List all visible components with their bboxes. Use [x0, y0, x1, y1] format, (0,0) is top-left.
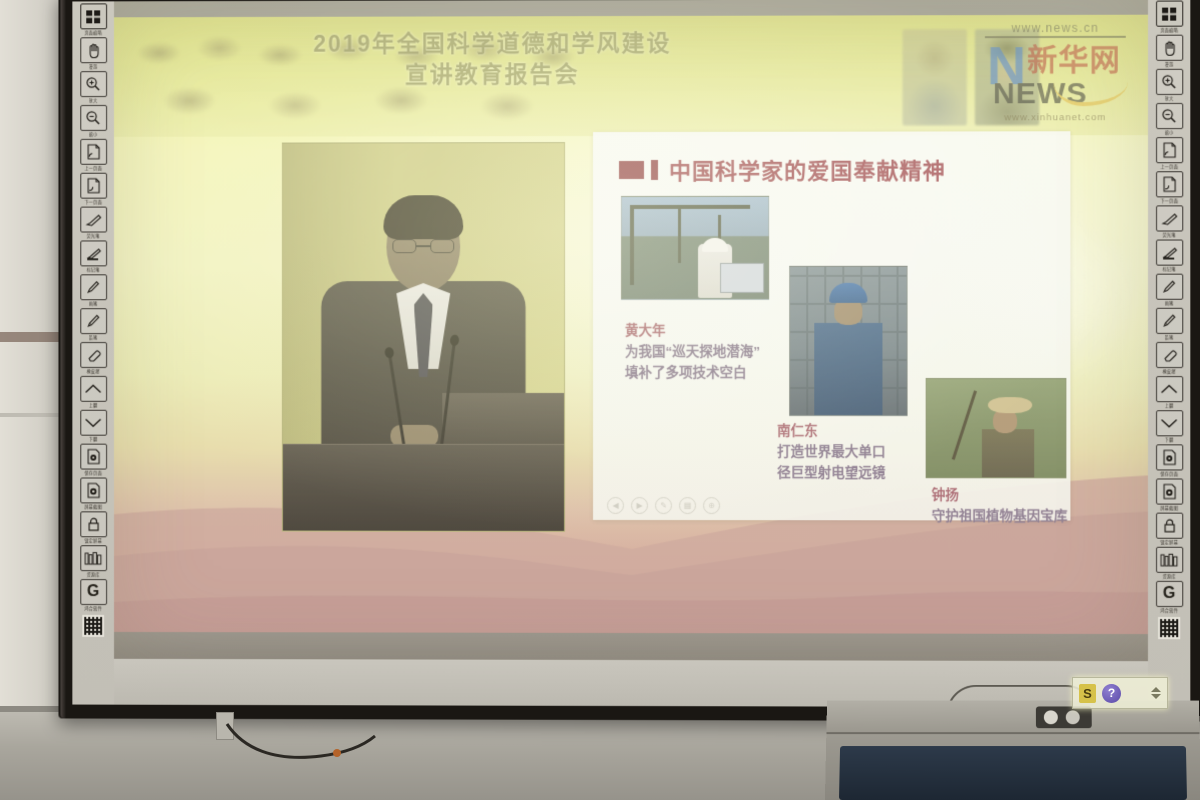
pen-icon: [1156, 274, 1183, 300]
next-page-icon: [1156, 171, 1183, 197]
rig-beam: [678, 207, 681, 263]
slide-photo-nan-rendong: [789, 266, 907, 416]
ppt-next-slide-button[interactable]: ▶: [631, 497, 648, 514]
toolbar-item-library[interactable]: 资源库: [78, 545, 108, 578]
banner-title-line2: 宣讲教育报告会: [114, 57, 872, 91]
toolbar-item-capture[interactable]: 屏幕截图: [78, 477, 108, 510]
control-panel: [720, 263, 764, 293]
zoom-out-icon: [1156, 103, 1183, 129]
toolbar-label: 鸿合软件: [1160, 608, 1178, 614]
toolbar-item-eraser[interactable]: 橡皮擦: [78, 342, 108, 375]
xinhua-url-top: www.news.cn: [981, 21, 1130, 35]
toolbar-item-pencil-right[interactable]: 铅笔: [1154, 308, 1184, 341]
toolbar-item-eraser-right[interactable]: 橡皮擦: [1154, 342, 1184, 375]
toolbar-item-library-right[interactable]: 资源库: [1154, 547, 1184, 580]
toolbar-item-zoom-out-right[interactable]: 缩小: [1154, 103, 1184, 136]
slide-heading-text: 中国科学家的爱国奉献精神: [669, 154, 946, 186]
toolbar-item-scroll-down-right[interactable]: 下翻: [1154, 410, 1184, 443]
ppt-zoom-button[interactable]: ⊕: [703, 497, 720, 514]
pencil-icon: [80, 308, 107, 334]
prev-page-icon: [1156, 137, 1183, 163]
ime-scroll-down-icon[interactable]: [1151, 694, 1161, 699]
toolbar-item-highlighter[interactable]: 标记笔: [78, 240, 108, 273]
toolbar-label: 锁定屏幕: [1160, 540, 1178, 546]
caption-name: 南仁东: [777, 420, 885, 441]
toolbar-label: 标记笔: [1162, 267, 1175, 273]
toolbar-label: 标记笔: [87, 267, 100, 273]
toolbar-label: 上翻: [1165, 403, 1174, 409]
event-banner: 2019年全国科学道德和学风建设 宣讲教育报告会 www.news.cn N 新…: [114, 15, 1148, 137]
caption-name: 钟扬: [932, 484, 1068, 505]
toolbar-label: 上翻: [89, 403, 98, 409]
podium: [283, 445, 564, 531]
capture-icon: [80, 477, 107, 503]
wall-left-panel: [0, 0, 62, 800]
toolbar-item-scroll-up[interactable]: 上翻: [78, 376, 108, 409]
marker-icon: [80, 207, 107, 233]
lock-icon: [1156, 513, 1183, 539]
toolbar-right[interactable]: 页面缩略 漫游 放: [1148, 0, 1190, 707]
stage-desk: [442, 393, 565, 451]
xinhua-logo: www.news.cn N 新华网 NEWS www.xinhuanet.com: [981, 21, 1130, 134]
ime-help-icon[interactable]: ?: [1102, 684, 1121, 703]
speaker-glasses: [392, 239, 454, 253]
qr-code-icon: [82, 615, 104, 637]
library-icon: [80, 545, 107, 571]
toolbar-label: 资源库: [87, 572, 100, 578]
interactive-whiteboard-frame: 页面缩略 漫游 放: [58, 0, 1200, 722]
toolbar-label: 下一页面: [1160, 198, 1178, 204]
toolbar-label: 锁定屏幕: [84, 538, 101, 544]
toolbar-label: 画笔: [89, 301, 98, 307]
toolbar-label: 缩小: [1165, 130, 1174, 136]
hand-pan-icon: [1156, 35, 1183, 61]
toolbar-item-highlighter-right[interactable]: 标记笔: [1154, 240, 1184, 273]
ppt-pen-button[interactable]: ✎: [655, 497, 672, 514]
rig-beam: [630, 205, 634, 285]
presentation-control-bar[interactable]: ◀ ▶ ✎ ▦ ⊕: [607, 497, 720, 514]
toolbar-item-pen-right[interactable]: 画笔: [1154, 274, 1184, 307]
highlighter-icon: [80, 240, 107, 266]
toolbar-item-brand-g-right[interactable]: G 鸿合软件: [1154, 581, 1184, 614]
thumbnails-icon: [86, 10, 101, 23]
toolbar-label: 荧光笔: [1162, 232, 1175, 238]
power-cable: [225, 722, 395, 762]
caption-name: 黄大年: [625, 320, 760, 341]
toolbar-item-pen[interactable]: 画笔: [78, 274, 108, 307]
chevron-up-icon: [80, 376, 107, 402]
xinhua-url-bottom: www.xinhuanet.com: [981, 112, 1130, 123]
xinhua-mark: N 新华网 NEWS: [981, 38, 1130, 113]
toolbar-label: 荧光笔: [87, 233, 100, 239]
toolbar-label: 漫游: [89, 64, 98, 70]
toolbar-item-zoom-in-right[interactable]: 放大: [1154, 69, 1184, 102]
caption-zhong-yang: 钟扬 守护祖国植物基因宝库: [932, 484, 1068, 526]
toolbar-label: 铅笔: [89, 335, 98, 341]
heading-bar-bullet-icon: [651, 160, 658, 180]
toolbar-left[interactable]: 页面缩略 漫游 放: [72, 1, 114, 704]
save-page-icon: [80, 444, 107, 470]
toolbar-item-scroll-down[interactable]: 下翻: [78, 410, 108, 443]
ppt-prev-slide-button[interactable]: ◀: [607, 497, 624, 514]
ime-scroll-up-icon[interactable]: [1151, 687, 1161, 692]
slide-photo-zhong-yang: [926, 378, 1067, 478]
pen-icon: [80, 274, 107, 300]
toolbar-label: 画笔: [1165, 301, 1174, 307]
caption-line2: 打造世界最大单口: [777, 441, 885, 462]
banner-title: 2019年全国科学道德和学风建设 宣讲教育报告会: [114, 27, 872, 91]
toolbar-label: 橡皮擦: [1162, 369, 1175, 375]
wall-seam-light: [0, 413, 62, 417]
toolbar-label: 页面缩略: [84, 30, 101, 36]
brand-g-icon: G: [1156, 581, 1183, 607]
toolbar-item-save-page-right[interactable]: 保存页面: [1154, 444, 1184, 477]
toolbar-item-zoom-in[interactable]: 放大: [78, 71, 108, 104]
toolbar-item-hand-pan-right[interactable]: 漫游: [1154, 35, 1184, 68]
projection-bottom-band: [114, 632, 1148, 661]
caption-line2: 守护祖国植物基因宝库: [932, 505, 1068, 526]
eraser-icon: [80, 342, 107, 368]
speaker-hair: [383, 195, 463, 239]
banner-title-line1: 2019年全国科学道德和学风建设: [114, 27, 872, 59]
toolbar-item-next-page[interactable]: 下一页面: [78, 173, 108, 206]
toolbar-label: 铅笔: [1165, 335, 1174, 341]
toolbar-item-save-page[interactable]: 保存页面: [78, 444, 108, 477]
toolbar-item-lock-right[interactable]: 锁定屏幕: [1154, 513, 1184, 546]
ime-engine-icon[interactable]: S: [1079, 684, 1096, 703]
toolbar-item-marker-right[interactable]: 荧光笔: [1154, 205, 1184, 238]
toolbar-label: 保存页面: [84, 471, 101, 477]
zoom-in-icon: [80, 71, 107, 97]
engineer-body: [814, 323, 882, 416]
caption-line3: 径巨型射电望远镜: [777, 462, 885, 483]
wall-seam-dark: [0, 332, 62, 342]
library-icon: [1156, 547, 1183, 573]
toolbar-label: 下翻: [89, 437, 98, 443]
glasses-right-lens: [430, 239, 454, 253]
device-lower-body: [839, 746, 1187, 800]
toolbar-item-marker[interactable]: 荧光笔: [78, 207, 108, 240]
slide-content-card: 中国科学家的爱国奉献精神: [593, 131, 1070, 520]
rig-beam: [630, 205, 750, 209]
field-pole: [952, 390, 977, 460]
projected-slide-area: 2019年全国科学道德和学风建设 宣讲教育报告会 www.news.cn N 新…: [114, 0, 1148, 661]
toolbar-label: 资源库: [1162, 574, 1175, 580]
toolbar-label: 下一页面: [84, 200, 101, 206]
hand-pan-icon: [80, 37, 107, 63]
heading-square-bullet-icon: [619, 161, 644, 179]
toolbar-item-scroll-up-right[interactable]: 上翻: [1154, 376, 1184, 409]
toolbar-item-thumbnails[interactable]: 页面缩略: [78, 3, 108, 36]
researcher-body: [982, 429, 1034, 478]
toolbar-label: 上一页面: [84, 166, 101, 172]
sun-hat: [988, 397, 1032, 413]
toolbar-item-brand-g[interactable]: G 鸿合软件: [78, 579, 108, 612]
chevron-down-icon: [1156, 410, 1183, 436]
lock-icon: [80, 511, 107, 537]
toolbar-label: 橡皮擦: [87, 369, 100, 375]
toolbar-label: 屏幕截图: [1160, 506, 1178, 512]
toolbar-label: 屏幕截图: [84, 504, 101, 510]
device-lens-module: [1036, 706, 1092, 728]
toolbar-item-pencil[interactable]: 铅笔: [78, 308, 108, 341]
toolbar-label: 放大: [89, 98, 98, 104]
slide-photo-huang-danian: [621, 196, 769, 300]
glasses-bridge: [416, 245, 430, 247]
prev-page-icon: [80, 139, 107, 165]
zoom-in-icon: [1156, 69, 1183, 95]
ime-scroll-arrows[interactable]: [1151, 687, 1161, 699]
toolbar-label: 下翻: [1165, 437, 1174, 443]
input-method-toolbar[interactable]: S ?: [1072, 677, 1168, 709]
toolbar-item-next-page-right[interactable]: 下一页面: [1154, 171, 1184, 204]
xinhua-chinese-mark: 新华网: [1027, 44, 1121, 78]
toolbar-item-thumbnails-right[interactable]: 页面缩略: [1154, 1, 1184, 34]
projector-podium-device: [825, 701, 1200, 800]
toolbar-item-hand-pan[interactable]: 漫游: [78, 37, 108, 70]
toolbar-label: 页面缩略: [1160, 28, 1178, 34]
slide-heading: 中国科学家的爱国奉献精神: [619, 154, 946, 186]
toolbar-label: 缩小: [89, 132, 98, 138]
save-page-icon: [1156, 444, 1183, 470]
chevron-up-icon: [1156, 376, 1183, 402]
capture-icon: [1156, 478, 1183, 504]
chevron-down-icon: [80, 410, 107, 436]
toolbar-item-prev-page[interactable]: 上一页面: [78, 139, 108, 172]
toolbar-label: 放大: [1165, 96, 1174, 102]
thumbnails-icon: [1162, 7, 1177, 20]
glasses-left-lens: [392, 239, 416, 253]
toolbar-label: 鸿合软件: [84, 606, 101, 612]
zoom-out-icon: [80, 105, 107, 131]
marker-icon: [1156, 205, 1183, 231]
toolbar-item-zoom-out[interactable]: 缩小: [78, 105, 108, 138]
brand-g-icon: G: [80, 579, 107, 605]
toolbar-item-lock[interactable]: 锁定屏幕: [78, 511, 108, 544]
caption-line3: 填补了多项技术空白: [625, 362, 760, 383]
toolbar-item-prev-page-right[interactable]: 上一页面: [1154, 137, 1184, 170]
portrait-photo-scientist: [903, 29, 967, 125]
speaker-photo: [282, 142, 565, 532]
toolbar-label: 上一页面: [1160, 164, 1178, 170]
toolbar-label: 漫游: [1165, 62, 1174, 68]
powerpoint-slide: 2019年全国科学道德和学风建设 宣讲教育报告会 www.news.cn N 新…: [114, 15, 1148, 634]
toolbar-label: 保存页面: [1160, 471, 1178, 477]
caption-line2: 为我国“巡天探地潜海”: [625, 341, 760, 362]
qr-code-icon: [1158, 617, 1180, 639]
caption-nan-rendong: 南仁东 打造世界最大单口 径巨型射电望远镜: [777, 420, 885, 483]
highlighter-icon: [1156, 240, 1183, 266]
pencil-icon: [1156, 308, 1183, 334]
whiteboard-surface: 页面缩略 漫游 放: [72, 0, 1190, 707]
next-page-icon: [80, 173, 107, 199]
ppt-menu-button[interactable]: ▦: [679, 497, 696, 514]
toolbar-item-capture-right[interactable]: 屏幕截图: [1154, 478, 1184, 511]
eraser-icon: [1156, 342, 1183, 368]
caption-huang-danian: 黄大年 为我国“巡天探地潜海” 填补了多项技术空白: [625, 320, 760, 383]
